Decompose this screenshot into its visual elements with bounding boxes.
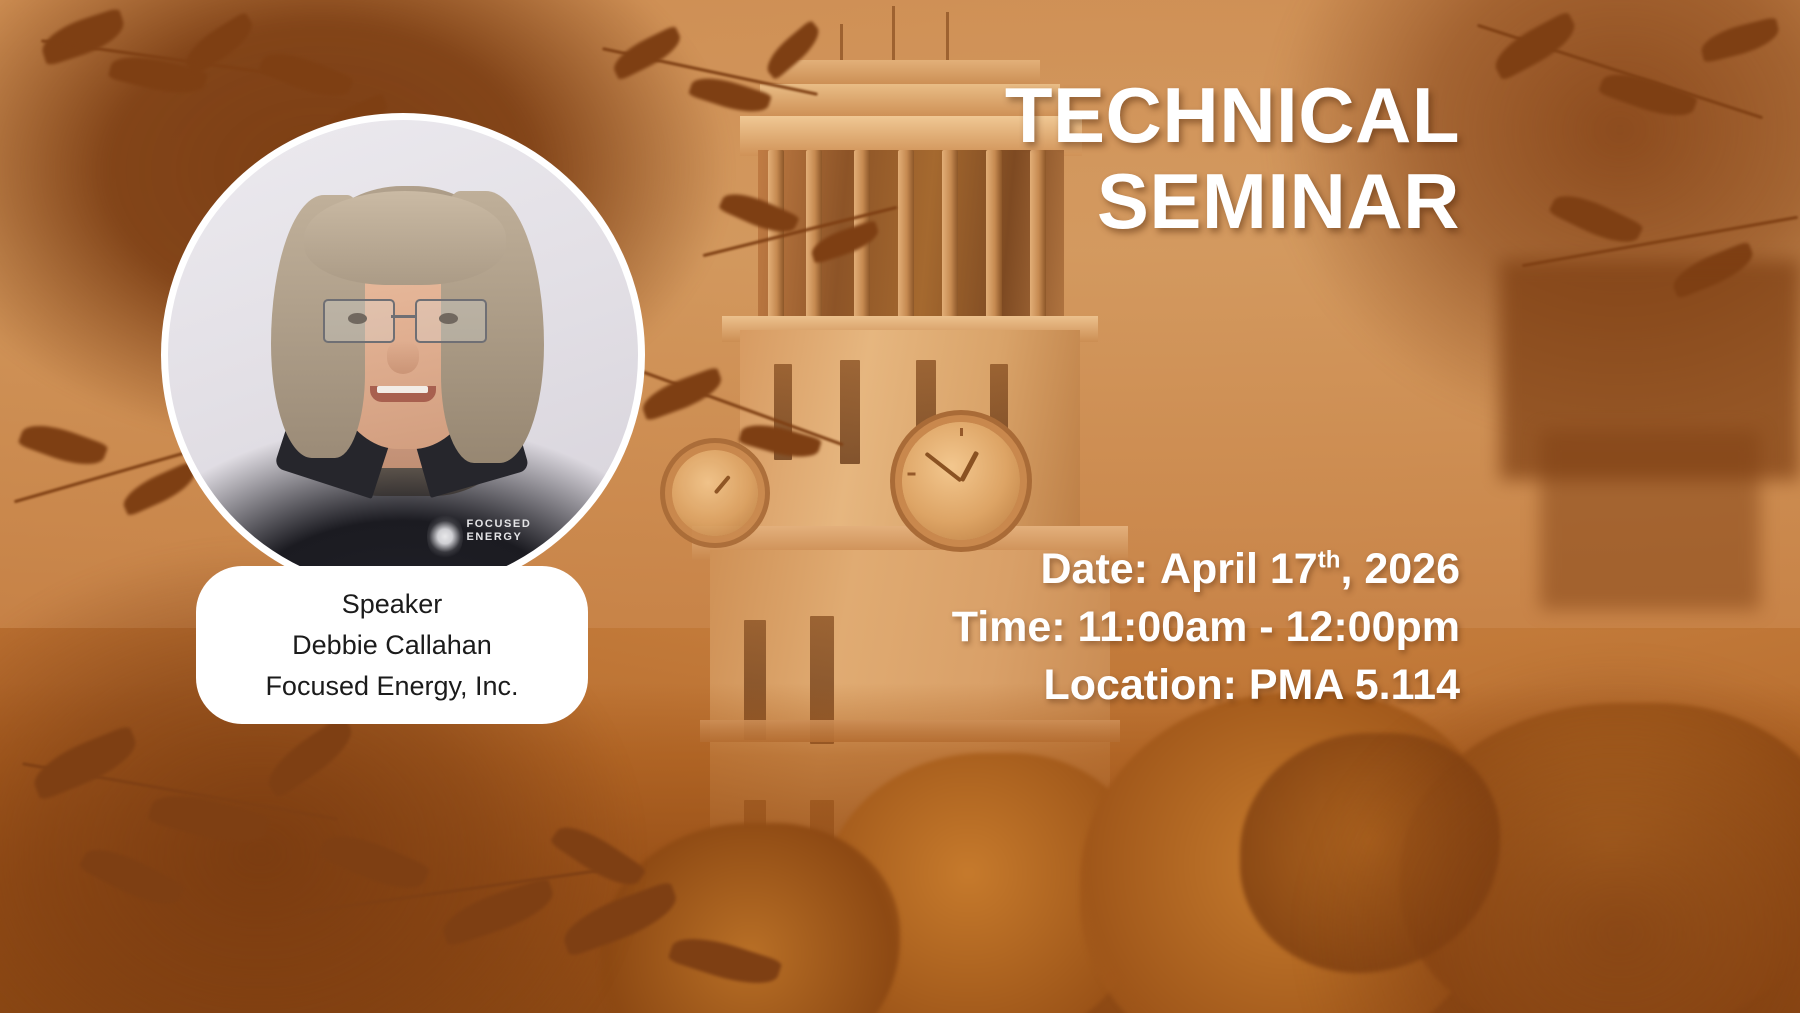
teeth xyxy=(377,386,429,393)
page-title: TECHNICAL SEMINAR xyxy=(900,72,1460,244)
logo-text: FOCUSED ENERGY xyxy=(466,518,531,544)
speaker-info-card: Speaker Debbie Callahan Focused Energy, … xyxy=(196,566,588,724)
event-details: Date: April 17th, 2026 Time: 11:00am - 1… xyxy=(800,540,1460,714)
date-label: Date: xyxy=(1040,545,1148,593)
logo-text-line1: FOCUSED xyxy=(466,518,531,531)
seminar-poster: FOCUSED ENERGY Speaker Debbie Callahan F… xyxy=(0,0,1800,1013)
speaker-role-label: Speaker xyxy=(342,584,443,625)
date-month-day: April 17 xyxy=(1160,545,1318,593)
date-ordinal-suffix: th xyxy=(1318,547,1341,574)
speaker-affiliation: Focused Energy, Inc. xyxy=(265,666,518,707)
hair-fringe xyxy=(304,191,506,285)
nose xyxy=(387,341,420,374)
speaker-portrait-photo: FOCUSED ENERGY xyxy=(161,113,645,597)
event-time-line: Time: 11:00am - 12:00pm xyxy=(800,598,1460,656)
date-year: , 2026 xyxy=(1340,545,1460,593)
sunburst-icon xyxy=(427,512,464,562)
title-line-1: TECHNICAL xyxy=(900,72,1460,158)
logo-text-line2: ENERGY xyxy=(466,531,531,544)
speaker-name: Debbie Callahan xyxy=(292,625,492,666)
eyeglasses-bridge xyxy=(391,315,415,318)
event-date-line: Date: April 17th, 2026 xyxy=(800,540,1460,598)
event-location-line: Location: PMA 5.114 xyxy=(800,656,1460,714)
title-line-2: SEMINAR xyxy=(900,158,1460,244)
eyeglasses-lens-left xyxy=(323,299,395,343)
eyeglasses-lens-right xyxy=(415,299,487,343)
